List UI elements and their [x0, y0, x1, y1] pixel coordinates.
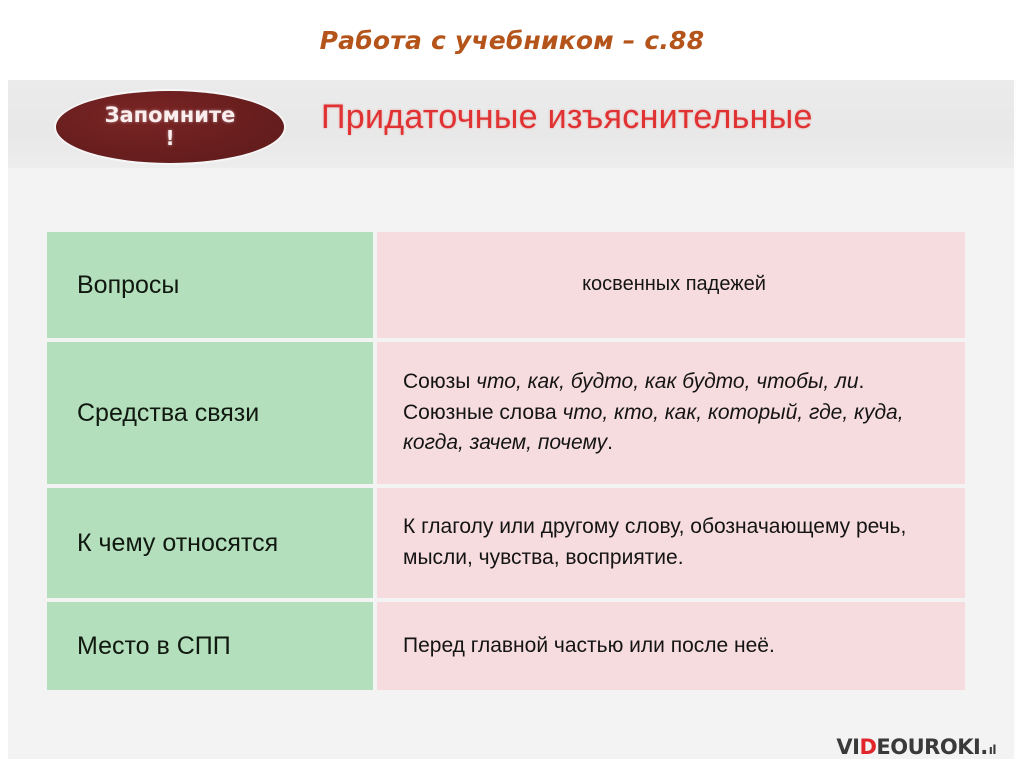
table-row: Место в СПП Перед главной частью или пос…	[47, 598, 965, 690]
row-value-relates: К глаголу или другому слову, обозначающе…	[377, 484, 965, 598]
row-value-questions: косвенных падежей	[377, 232, 965, 338]
row-value-place: Перед главной частью или после неё.	[377, 598, 965, 690]
clause-properties-table: Вопросы косвенных падежей Средства связи…	[47, 232, 965, 690]
logo-suffix: ıl	[989, 743, 996, 757]
logo-accent-letter: D	[859, 735, 876, 759]
row-label-questions: Вопросы	[47, 232, 377, 338]
content-panel: Запомните ! Придаточные изъяснительные В…	[8, 80, 1016, 759]
table-row: Вопросы косвенных падежей	[47, 232, 965, 338]
row-label-relates: К чему относятся	[47, 484, 377, 598]
table-row: К чему относятся К глаголу или другому с…	[47, 484, 965, 598]
remember-badge: Запомните !	[56, 91, 284, 163]
row-label-means: Средства связи	[47, 338, 377, 484]
panel-header: Запомните ! Придаточные изъяснительные	[8, 80, 1014, 168]
row-label-place: Место в СПП	[47, 598, 377, 690]
row-value-means: Союзы что, как, будто, как будто, чтобы,…	[377, 338, 965, 484]
remember-badge-label: Запомните	[105, 104, 236, 126]
panel-heading: Придаточные изъяснительные	[321, 98, 813, 137]
slide-title-band: Работа с учебником – с.88	[0, 0, 1024, 80]
table-row: Средства связи Союзы что, как, будто, ка…	[47, 338, 965, 484]
videouroki-logo: VIDEOUROKI.ıl	[836, 735, 996, 759]
exclamation-icon: !	[165, 127, 174, 150]
panel-body: Вопросы косвенных падежей Средства связи…	[8, 168, 1014, 759]
table-body: Вопросы косвенных падежей Средства связи…	[47, 232, 965, 690]
logo-prefix: VI	[836, 735, 859, 759]
logo-rest: EOUROKI.	[876, 735, 987, 759]
page-title: Работа с учебником – с.88	[320, 26, 705, 55]
